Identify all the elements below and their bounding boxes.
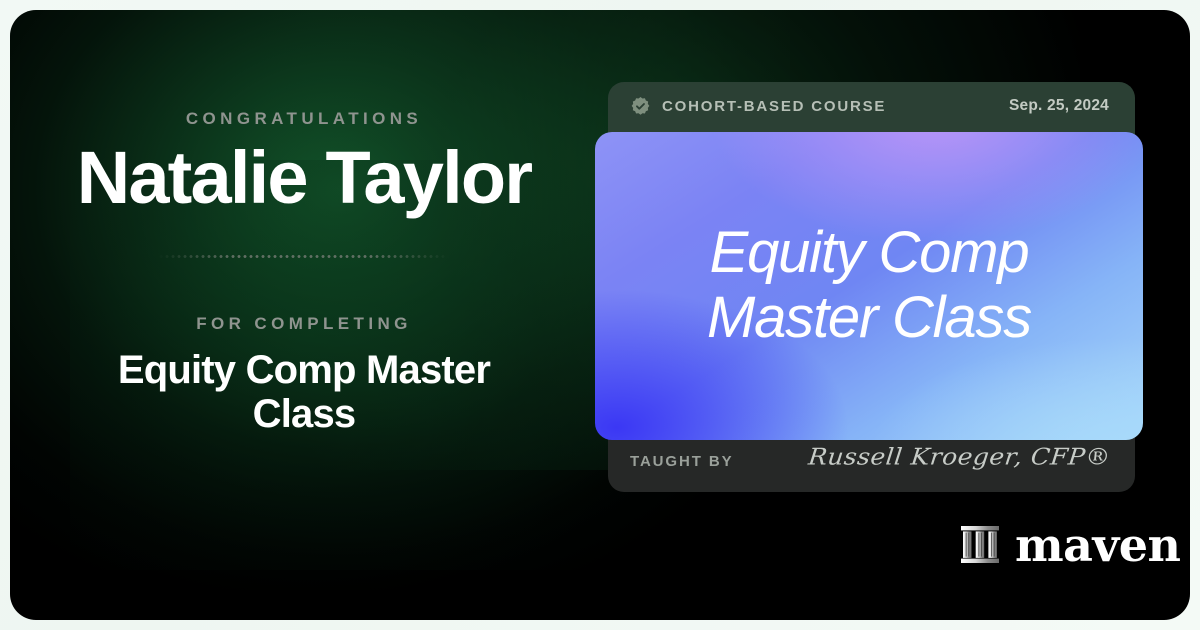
congratulations-label: CONGRATULATIONS — [186, 109, 422, 129]
course-type-group: COHORT-BASED COURSE — [630, 96, 886, 117]
maven-wordmark: maven — [1015, 522, 1180, 568]
taught-by-label: TAUGHT BY — [630, 453, 733, 470]
maven-logo: maven — [960, 522, 1180, 568]
course-thumbnail: Equity Comp Master Class — [595, 132, 1143, 440]
certificate-canvas: CONGRATULATIONS Natalie Taylor FOR COMPL… — [0, 0, 1200, 630]
course-date: Sep. 25, 2024 — [1009, 96, 1109, 115]
course-type-tag: COHORT-BASED COURSE — [662, 98, 886, 115]
for-completing-label: FOR COMPLETING — [196, 314, 412, 334]
course-panel: COHORT-BASED COURSE Sep. 25, 2024 TAUGHT… — [608, 82, 1135, 492]
course-name: Equity Comp Master Class — [69, 348, 539, 436]
verified-badge-icon — [630, 96, 651, 117]
certificate-card: CONGRATULATIONS Natalie Taylor FOR COMPL… — [10, 10, 1190, 620]
recipient-section: CONGRATULATIONS Natalie Taylor FOR COMPL… — [10, 10, 598, 620]
dotted-divider — [158, 255, 450, 258]
recipient-name: Natalie Taylor — [77, 142, 532, 215]
maven-pillars-icon — [960, 523, 1000, 567]
course-thumbnail-title: Equity Comp Master Class — [595, 221, 1143, 351]
instructor-signature: Russell Kroeger, CFP® — [807, 443, 1112, 470]
